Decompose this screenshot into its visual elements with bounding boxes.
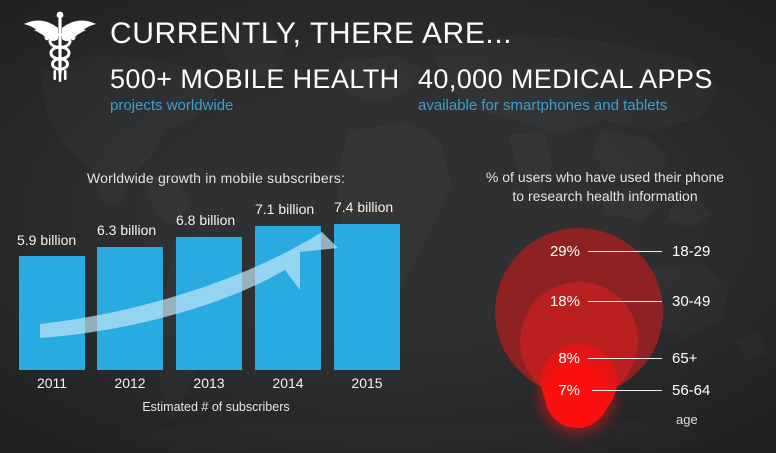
bubble-label-30-49: 30-49 — [672, 293, 710, 310]
bubble-leader-56-64 — [592, 390, 662, 391]
bubble-chart-title-line1: % of users who have used their phone — [486, 169, 724, 185]
bubble-leader-65plus — [588, 358, 662, 359]
bubble-chart-axis-label: age — [676, 412, 698, 427]
bubble-leader-18-29 — [588, 251, 662, 252]
stat-medical-apps: 40,000 MEDICAL APPS available for smartp… — [418, 64, 713, 114]
stat-medical-apps-caption: available for smartphones and tablets — [418, 97, 713, 114]
page-title: CURRENTLY, THERE ARE... — [110, 17, 512, 51]
caduceus-icon — [18, 6, 102, 90]
bubble-pct-56-64: 7% — [536, 382, 580, 399]
bar-value-2015: 7.4 billion — [334, 199, 393, 215]
infographic-canvas: CURRENTLY, THERE ARE... 500+ MOBILE HEAL… — [0, 0, 776, 453]
bar-2012 — [97, 247, 163, 370]
bar-year-2013: 2013 — [176, 375, 242, 391]
bubble-pct-18-29: 29% — [536, 243, 580, 260]
bar-2014 — [255, 226, 321, 370]
bar-chart-axis-label: Estimated # of subscribers — [0, 400, 432, 414]
bubble-pct-65plus: 8% — [536, 350, 580, 367]
stat-mobile-health: 500+ MOBILE HEALTH projects worldwide — [110, 64, 400, 114]
bar-2011 — [19, 256, 85, 370]
bar-value-2013: 6.8 billion — [176, 212, 235, 228]
bar-2015 — [334, 224, 400, 370]
mobile-subscribers-bar-chart: Worldwide growth in mobile subscribers: … — [0, 160, 432, 420]
bubble-chart-title-line2: to research health information — [512, 188, 697, 204]
bubble-label-56-64: 56-64 — [672, 382, 710, 399]
bar-value-2014: 7.1 billion — [255, 201, 314, 217]
bubble-leader-30-49 — [588, 301, 662, 302]
bar-chart-title: Worldwide growth in mobile subscribers: — [0, 170, 432, 186]
stat-mobile-health-value: 500+ MOBILE HEALTH — [110, 64, 400, 95]
bar-year-2014: 2014 — [255, 375, 321, 391]
stat-medical-apps-value: 40,000 MEDICAL APPS — [418, 64, 713, 95]
bar-year-2011: 2011 — [19, 375, 85, 391]
bubble-pct-30-49: 18% — [536, 293, 580, 310]
bar-value-2011: 5.9 billion — [17, 232, 76, 248]
bar-2013 — [176, 237, 242, 370]
bubble-label-18-29: 18-29 — [672, 243, 710, 260]
health-research-bubble-chart: % of users who have used their phone to … — [440, 160, 776, 450]
bubble-chart-title: % of users who have used their phone to … — [440, 168, 770, 206]
stat-mobile-health-caption: projects worldwide — [110, 97, 400, 114]
bar-year-2012: 2012 — [97, 375, 163, 391]
bar-year-2015: 2015 — [334, 375, 400, 391]
bar-value-2012: 6.3 billion — [97, 222, 156, 238]
bubble-label-65plus: 65+ — [672, 350, 697, 367]
